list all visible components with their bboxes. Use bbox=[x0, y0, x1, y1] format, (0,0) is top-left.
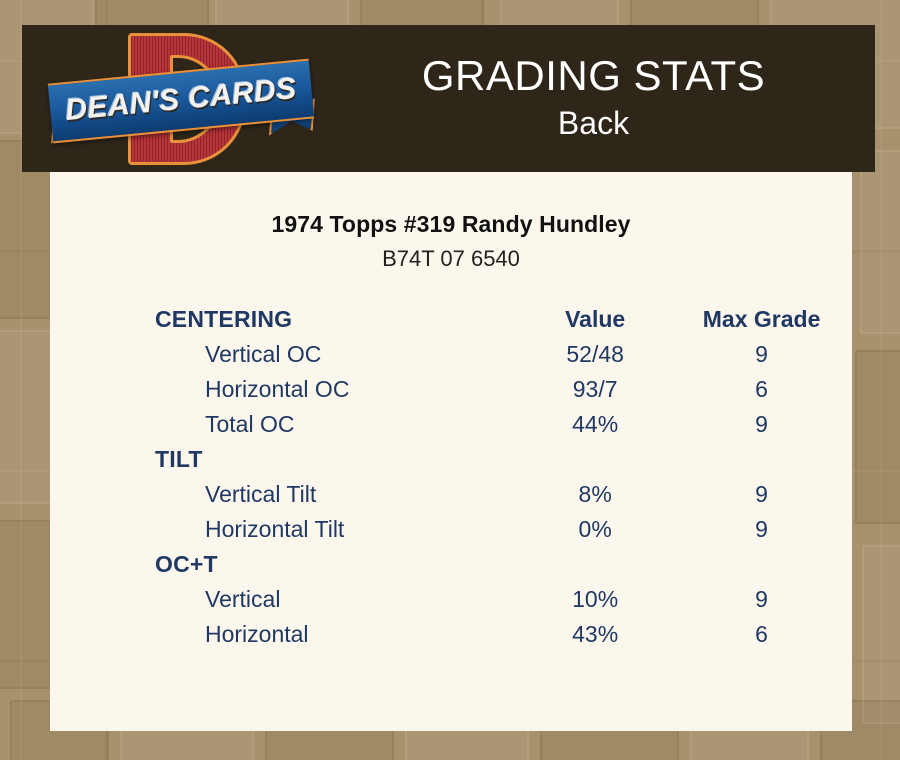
stats-row-value bbox=[519, 547, 671, 582]
stats-row-value: Value bbox=[519, 302, 671, 337]
page-subtitle: Back bbox=[558, 103, 629, 143]
stats-row-max-grade: 6 bbox=[671, 617, 852, 652]
stats-row-max-grade: 9 bbox=[671, 477, 852, 512]
stats-section-row: TILT bbox=[50, 442, 852, 477]
stats-row-label: TILT bbox=[50, 442, 519, 477]
stats-row-max-grade: 9 bbox=[671, 582, 852, 617]
stats-row-label: Vertical bbox=[50, 582, 519, 617]
stats-row-label: CENTERING bbox=[50, 302, 519, 337]
stats-row-label: Horizontal bbox=[50, 617, 519, 652]
page-title: GRADING STATS bbox=[422, 54, 765, 98]
stats-row-value: 43% bbox=[519, 617, 671, 652]
stats-row-label: Horizontal Tilt bbox=[50, 512, 519, 547]
stats-data-row: Vertical Tilt8%9 bbox=[50, 477, 852, 512]
content-panel: 1974 Topps #319 Randy Hundley B74T 07 65… bbox=[50, 172, 852, 731]
stats-section-row: CENTERINGValueMax Grade bbox=[50, 302, 852, 337]
card-serial-number: B74T 07 6540 bbox=[50, 246, 852, 272]
stats-row-value bbox=[519, 442, 671, 477]
grading-stats-body: CENTERINGValueMax GradeVertical OC52/489… bbox=[50, 302, 852, 652]
stats-row-label: Vertical OC bbox=[50, 337, 519, 372]
stats-row-label: OC+T bbox=[50, 547, 519, 582]
stats-row-label: Total OC bbox=[50, 407, 519, 442]
stats-row-value: 52/48 bbox=[519, 337, 671, 372]
stats-row-value: 0% bbox=[519, 512, 671, 547]
stats-row-label: Horizontal OC bbox=[50, 372, 519, 407]
stats-data-row: Horizontal Tilt0%9 bbox=[50, 512, 852, 547]
header-bar: DEAN'S CARDS GRADING STATS Back bbox=[22, 25, 875, 172]
stats-row-value: 44% bbox=[519, 407, 671, 442]
stats-data-row: Vertical OC52/489 bbox=[50, 337, 852, 372]
stats-row-value: 10% bbox=[519, 582, 671, 617]
stats-row-max-grade: 9 bbox=[671, 512, 852, 547]
stats-row-max-grade: 9 bbox=[671, 337, 852, 372]
stats-data-row: Total OC44%9 bbox=[50, 407, 852, 442]
grading-stats-table: CENTERINGValueMax GradeVertical OC52/489… bbox=[50, 302, 852, 652]
card-title: 1974 Topps #319 Randy Hundley bbox=[50, 211, 852, 238]
stats-row-label: Vertical Tilt bbox=[50, 477, 519, 512]
deans-cards-logo[interactable]: DEAN'S CARDS bbox=[50, 31, 312, 167]
stats-row-max-grade bbox=[671, 547, 852, 582]
stats-row-value: 8% bbox=[519, 477, 671, 512]
stats-row-max-grade: 6 bbox=[671, 372, 852, 407]
stats-row-max-grade bbox=[671, 442, 852, 477]
stats-data-row: Horizontal OC93/76 bbox=[50, 372, 852, 407]
stats-section-row: OC+T bbox=[50, 547, 852, 582]
stats-data-row: Horizontal43%6 bbox=[50, 617, 852, 652]
stats-row-value: 93/7 bbox=[519, 372, 671, 407]
stats-row-max-grade: 9 bbox=[671, 407, 852, 442]
stats-row-max-grade: Max Grade bbox=[671, 302, 852, 337]
stats-data-row: Vertical10%9 bbox=[50, 582, 852, 617]
header-title-group: GRADING STATS Back bbox=[312, 25, 875, 172]
